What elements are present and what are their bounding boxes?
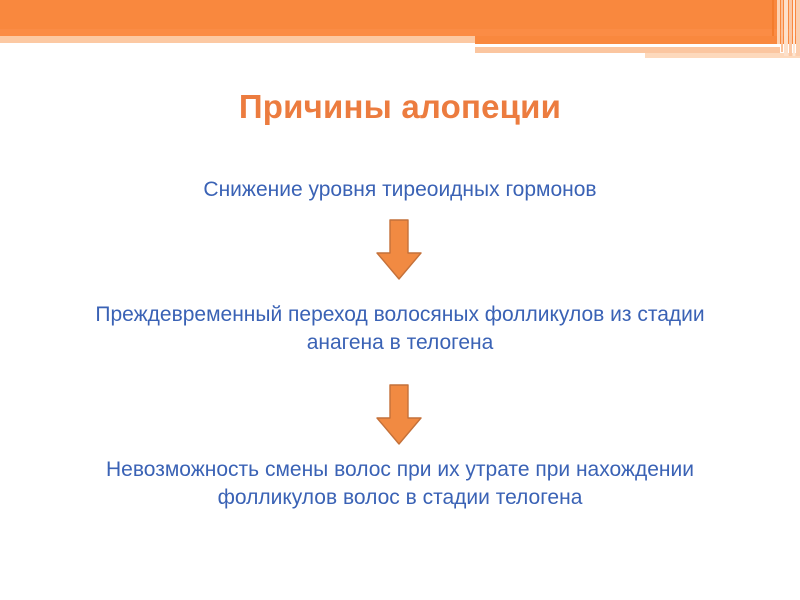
header-banner xyxy=(0,0,800,70)
banner-vertical-stripe-4 xyxy=(781,0,783,52)
banner-vertical-stripe-8 xyxy=(796,0,800,56)
banner-vertical-stripe-1 xyxy=(772,0,774,36)
flow-step-2-text: Преждевременный переход волосяных фоллик… xyxy=(90,301,710,356)
banner-vertical-stripe-3 xyxy=(777,0,780,44)
banner-lower-band xyxy=(0,29,800,36)
banner-main-band xyxy=(0,0,800,29)
flow-step-3-text: Невозможность смены волос при их утрате … xyxy=(55,456,745,511)
banner-right-block xyxy=(475,36,800,44)
flow-step-1-text: Снижение уровня тиреоидных гормонов xyxy=(60,176,740,204)
banner-vertical-stripe-5 xyxy=(784,0,788,56)
banner-vertical-stripe-6 xyxy=(789,0,792,56)
banner-vertical-stripe-7 xyxy=(793,0,795,56)
down-arrow-icon xyxy=(376,384,422,446)
slide: Причины алопеции Снижение уровня тиреоид… xyxy=(0,0,800,600)
banner-accent-bar-short xyxy=(645,53,800,58)
slide-title: Причины алопеции xyxy=(0,88,800,126)
down-arrow-icon xyxy=(376,219,422,281)
